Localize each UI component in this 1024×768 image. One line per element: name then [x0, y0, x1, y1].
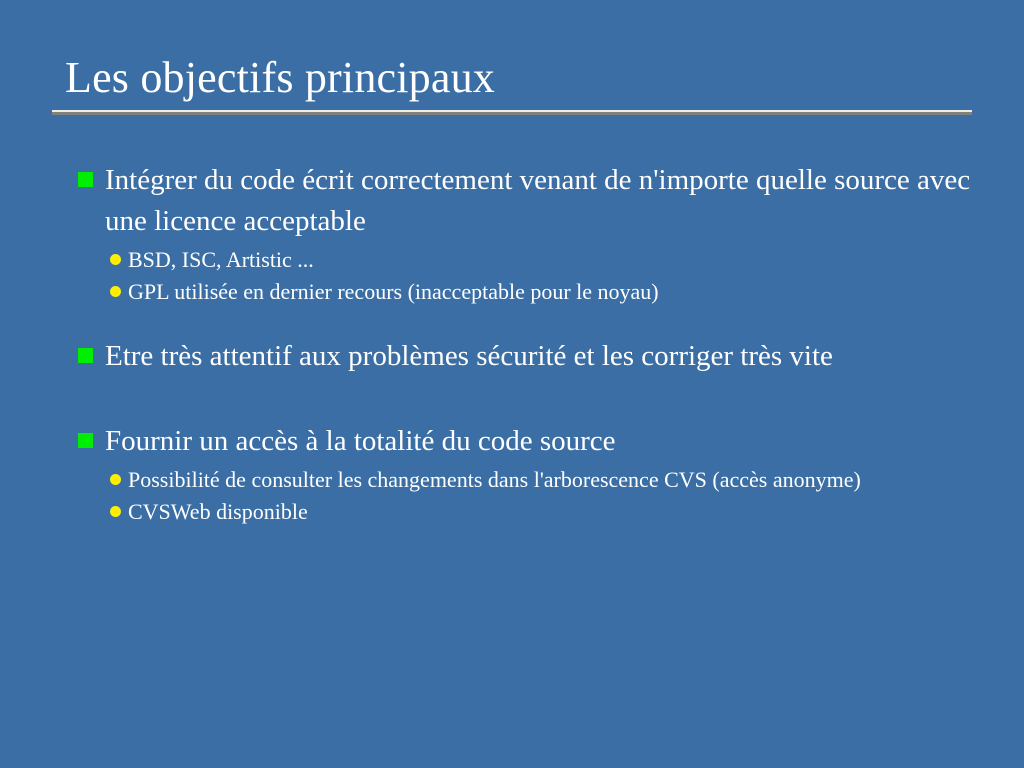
bullet-text: Intégrer du code écrit correctement vena…: [105, 160, 978, 242]
list-item: Intégrer du code écrit correctement vena…: [78, 160, 978, 242]
yellow-dot-bullet-icon: [110, 286, 121, 297]
sub-bullet-text: CVSWeb disponible: [128, 496, 978, 528]
list-item: CVSWeb disponible: [110, 496, 978, 528]
page-title: Les objectifs principaux: [52, 50, 972, 106]
yellow-dot-bullet-icon: [110, 254, 121, 265]
yellow-dot-bullet-icon: [110, 474, 121, 485]
sub-bullet-list: BSD, ISC, Artistic ... GPL utilisée en d…: [78, 244, 978, 308]
sub-bullet-text: BSD, ISC, Artistic ...: [128, 244, 978, 276]
list-item: GPL utilisée en dernier recours (inaccep…: [110, 276, 978, 308]
bullet-group: Etre très attentif aux problèmes sécurit…: [78, 336, 978, 377]
bullet-text: Etre très attentif aux problèmes sécurit…: [105, 336, 978, 377]
list-item: BSD, ISC, Artistic ...: [110, 244, 978, 276]
presentation-slide: Les objectifs principaux Intégrer du cod…: [0, 0, 1024, 768]
yellow-dot-bullet-icon: [110, 506, 121, 517]
bullet-group: Intégrer du code écrit correctement vena…: [78, 160, 978, 308]
bullet-text: Fournir un accès à la totalité du code s…: [105, 421, 978, 462]
green-square-bullet-icon: [78, 348, 93, 363]
sub-bullet-text: GPL utilisée en dernier recours (inaccep…: [128, 276, 978, 308]
list-item: Fournir un accès à la totalité du code s…: [78, 421, 978, 462]
list-item: Possibilité de consulter les changements…: [110, 464, 978, 496]
title-divider-shadow: [52, 112, 972, 115]
slide-title-block: Les objectifs principaux: [52, 50, 972, 115]
bullet-group: Fournir un accès à la totalité du code s…: [78, 421, 978, 528]
title-divider: [52, 110, 972, 115]
sub-bullet-text: Possibilité de consulter les changements…: [128, 464, 978, 496]
list-item: Etre très attentif aux problèmes sécurit…: [78, 336, 978, 377]
green-square-bullet-icon: [78, 433, 93, 448]
slide-body: Intégrer du code écrit correctement vena…: [78, 160, 978, 528]
green-square-bullet-icon: [78, 172, 93, 187]
sub-bullet-list: Possibilité de consulter les changements…: [78, 464, 978, 528]
